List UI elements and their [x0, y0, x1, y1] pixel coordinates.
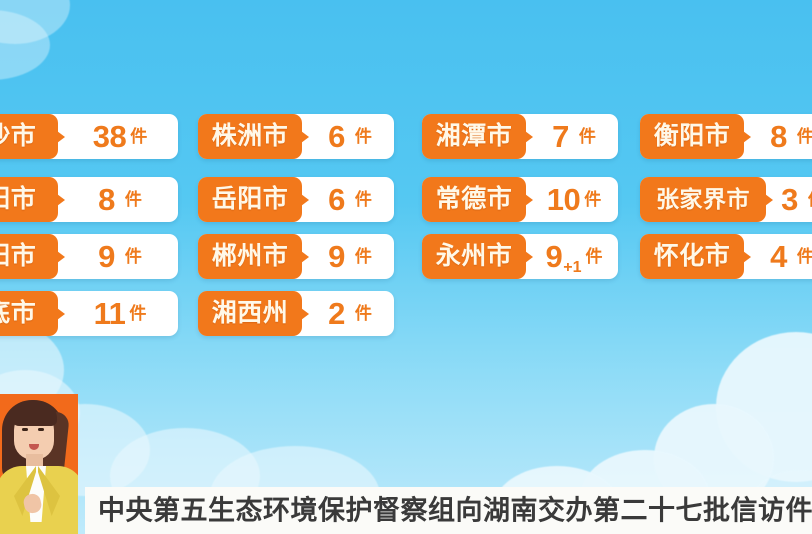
case-unit: 件 [808, 191, 812, 208]
case-unit: 件 [355, 191, 372, 208]
case-unit: 件 [579, 128, 596, 145]
city-card-xiangxi[interactable]: 湘西州 2 件 [198, 291, 394, 336]
case-count: 2 [328, 298, 345, 329]
city-name-tag: 湘潭市 [422, 114, 526, 159]
city-name-tag: 衡阳市 [640, 114, 744, 159]
case-count: 38 [93, 121, 126, 152]
case-unit: 件 [355, 305, 372, 322]
city-card-changde[interactable]: 常德市 10 件 [422, 177, 618, 222]
city-name: 常德市 [436, 187, 513, 212]
broadcast-screen: 长沙市 38 件 邵阳市 8 件 益阳市 9 件 [0, 0, 812, 534]
case-unit: 件 [586, 248, 603, 265]
case-count-area: 9 件 [302, 234, 394, 279]
city-card-huaihua[interactable]: 怀化市 4 件 [640, 234, 812, 279]
news-ticker-bar: 中央第五生态环境保护督察组向湖南交办第二十七批信访件1 [85, 487, 812, 534]
case-count-area: 11 件 [58, 291, 178, 336]
case-count-area: 8 件 [744, 114, 812, 159]
city-name: 永州市 [436, 244, 513, 269]
case-count: 9 [546, 241, 563, 272]
city-name-tag: 怀化市 [640, 234, 744, 279]
city-name: 益阳市 [0, 244, 36, 269]
city-card-chenzhou[interactable]: 郴州市 9 件 [198, 234, 394, 279]
case-count: 6 [328, 121, 345, 152]
city-name-tag: 益阳市 [0, 234, 58, 279]
case-count: 4 [770, 241, 787, 272]
city-name-tag: 常德市 [422, 177, 526, 222]
case-unit: 件 [584, 191, 601, 208]
case-count: 9 [328, 241, 345, 272]
case-count-area: 10 件 [526, 177, 618, 222]
city-name: 湘西州 [212, 301, 289, 326]
case-unit: 件 [129, 305, 146, 322]
city-card-zhangjiajie[interactable]: 张家界市 3 件 [640, 177, 812, 222]
city-name: 湘潭市 [436, 124, 513, 149]
anchor-eye-right [38, 428, 44, 431]
ticker-headline: 中央第五生态环境保护督察组向湖南交办第二十七批信访件1 [98, 497, 812, 524]
city-name: 长沙市 [0, 124, 36, 149]
case-count-area: 9 件 [58, 234, 178, 279]
city-card-yueyang[interactable]: 岳阳市 6 件 [198, 177, 394, 222]
case-unit: 件 [797, 248, 812, 265]
case-count: 8 [770, 121, 787, 152]
case-count-area: 7 件 [526, 114, 618, 159]
case-count-area: 9 +1 件 [526, 234, 618, 279]
city-card-shaoyang[interactable]: 邵阳市 8 件 [0, 177, 178, 222]
case-count-area: 38 件 [58, 114, 178, 159]
case-unit: 件 [355, 128, 372, 145]
city-card-loudi[interactable]: 娄底市 11 件 [0, 291, 178, 336]
city-name: 怀化市 [654, 244, 731, 269]
case-count: 3 [781, 184, 798, 215]
city-name: 娄底市 [0, 301, 36, 326]
city-name-tag: 岳阳市 [198, 177, 302, 222]
case-unit: 件 [355, 248, 372, 265]
city-name: 张家界市 [656, 188, 750, 211]
city-name: 岳阳市 [212, 187, 289, 212]
city-case-grid: 长沙市 38 件 邵阳市 8 件 益阳市 9 件 [0, 0, 812, 360]
city-card-zhuzhou[interactable]: 株洲市 6 件 [198, 114, 394, 159]
case-count-area: 6 件 [302, 177, 394, 222]
city-card-hengyang[interactable]: 衡阳市 8 件 [640, 114, 812, 159]
city-name-tag: 娄底市 [0, 291, 58, 336]
city-name-tag: 株洲市 [198, 114, 302, 159]
city-name-tag: 湘西州 [198, 291, 302, 336]
case-count: 7 [552, 121, 569, 152]
city-card-changsha[interactable]: 长沙市 38 件 [0, 114, 178, 159]
city-name-tag: 邵阳市 [0, 177, 58, 222]
case-count-extra: +1 [563, 260, 581, 279]
city-card-yiyang[interactable]: 益阳市 9 件 [0, 234, 178, 279]
anchor-bangs [11, 404, 57, 426]
city-name: 衡阳市 [654, 124, 731, 149]
city-card-yongzhou[interactable]: 永州市 9 +1 件 [422, 234, 618, 279]
case-count: 6 [328, 184, 345, 215]
case-count-area: 8 件 [58, 177, 178, 222]
news-anchor-inset [0, 394, 78, 534]
city-name: 邵阳市 [0, 187, 36, 212]
case-count-area: 4 件 [744, 234, 812, 279]
anchor-eye-left [22, 428, 28, 431]
case-count-area: 2 件 [302, 291, 394, 336]
case-count: 11 [94, 298, 126, 329]
city-name-tag: 长沙市 [0, 114, 58, 159]
case-count: 9 [98, 241, 115, 272]
city-name: 株洲市 [212, 124, 289, 149]
case-unit: 件 [125, 191, 142, 208]
case-count: 10 [547, 184, 580, 215]
city-name: 郴州市 [212, 244, 289, 269]
city-card-xiangtan[interactable]: 湘潭市 7 件 [422, 114, 618, 159]
case-unit: 件 [130, 128, 147, 145]
case-unit: 件 [797, 128, 812, 145]
case-count-area: 6 件 [302, 114, 394, 159]
city-name-tag: 张家界市 [640, 177, 766, 222]
case-unit: 件 [125, 248, 142, 265]
case-count: 8 [98, 184, 115, 215]
city-name-tag: 永州市 [422, 234, 526, 279]
city-name-tag: 郴州市 [198, 234, 302, 279]
